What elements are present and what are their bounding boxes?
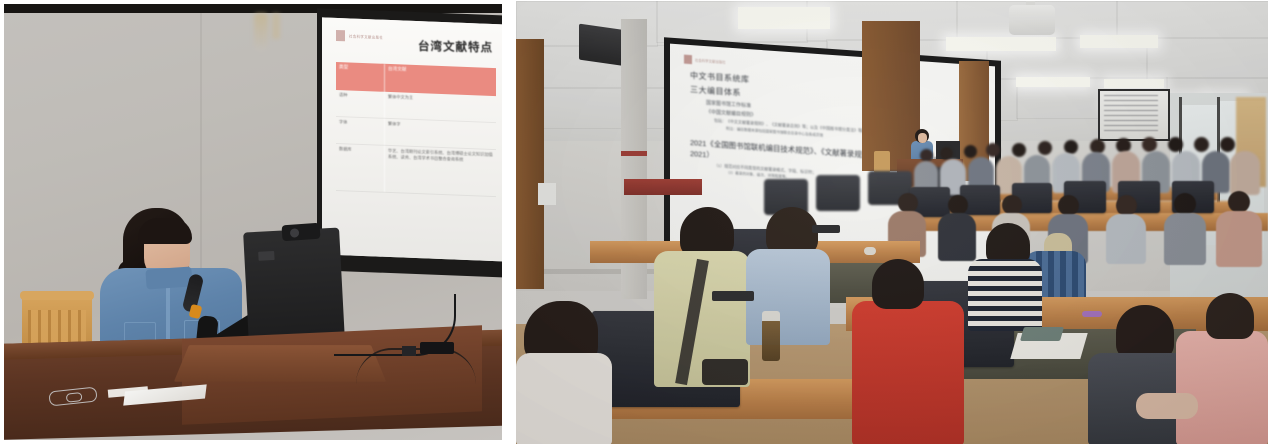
slide-table-row-label: 语种 bbox=[336, 90, 384, 118]
slide-table: 类型 台湾文献 语种 繁体中文为主 字体 繁体字 数据库 bbox=[336, 62, 496, 197]
audience-head bbox=[1116, 305, 1174, 359]
audience-head bbox=[872, 259, 924, 309]
audience-head bbox=[1064, 140, 1078, 154]
audience-person bbox=[1164, 213, 1206, 265]
audience-head bbox=[1168, 137, 1183, 152]
keyboard bbox=[812, 225, 840, 233]
ceiling-projector-icon bbox=[1009, 5, 1055, 35]
audience-head bbox=[1116, 195, 1137, 216]
audience-head bbox=[1206, 293, 1254, 339]
audience-person-left-foreground bbox=[516, 353, 612, 444]
cable-loop-secondary bbox=[356, 348, 476, 384]
slide-table-row-label: 字体 bbox=[336, 117, 384, 145]
shirt-collar bbox=[145, 266, 192, 289]
ceiling-light-panel bbox=[946, 37, 1056, 51]
mouse bbox=[864, 247, 876, 255]
wall-stain-secondary bbox=[272, 13, 280, 39]
slide-table-row-value: 繁体中文为主 bbox=[384, 92, 496, 122]
audience-head bbox=[1194, 137, 1209, 152]
smartphone bbox=[1020, 327, 1064, 341]
slide-table-row-label: 数据库 bbox=[336, 144, 384, 192]
slide-table-header-cell-0: 类型 bbox=[336, 62, 384, 92]
ceiling-light-panel bbox=[1104, 79, 1164, 88]
ceiling-light-panel bbox=[1016, 77, 1090, 87]
ceiling-light-panel bbox=[738, 7, 830, 29]
audience-head bbox=[1174, 193, 1196, 215]
presenter-bangs bbox=[138, 218, 192, 244]
keyboard bbox=[712, 291, 754, 301]
publisher-logo-icon bbox=[336, 30, 345, 41]
audience-head bbox=[1220, 137, 1235, 152]
podium-monitor bbox=[243, 228, 345, 345]
audience-head bbox=[1002, 195, 1022, 215]
audience-head bbox=[898, 193, 918, 213]
slide-table-row-value: 繁体字 bbox=[384, 119, 496, 149]
wall-speaker-icon bbox=[579, 24, 627, 67]
webcam-icon bbox=[281, 223, 320, 242]
ceiling-tile bbox=[1116, 1, 1268, 39]
desk-device bbox=[420, 342, 454, 354]
screenshot-root: 社会科学文献出版社 台湾文献特点 类型 台湾文献 语种 繁体中文为主 bbox=[0, 0, 1269, 444]
audience-head bbox=[964, 145, 977, 158]
audience-person-red-shirt bbox=[852, 301, 964, 444]
publisher-logo-icon bbox=[684, 55, 692, 65]
projection-screen-frame: 社会科学文献出版社 台湾文献特点 类型 台湾文献 语种 繁体中文为主 bbox=[317, 8, 502, 278]
side-door-left bbox=[516, 39, 544, 289]
audience-head bbox=[1058, 195, 1079, 216]
audience-head bbox=[766, 207, 818, 255]
slide-logo-text: 社会科学文献出版社 bbox=[695, 57, 726, 64]
chair-top-rail bbox=[20, 291, 94, 300]
slide-logo-text: 社会科学文献出版社 bbox=[349, 33, 383, 39]
bench-front bbox=[624, 179, 702, 195]
audience-person bbox=[938, 213, 976, 261]
slide-table-header-cell-1: 台湾文献 bbox=[384, 64, 496, 96]
monitor-badge bbox=[258, 251, 274, 261]
slide-table-row: 数据库 华艺、台湾期刊论文索引系统、台湾博硕士论文知识加值系统、读秀、台湾学术书… bbox=[336, 144, 496, 197]
lecturer-face bbox=[918, 133, 927, 143]
photo-classroom-wide: 社会科学文献出版社 中文书目系统库 三大编目体系 国家图书馆工作标准 《中国文献… bbox=[516, 1, 1268, 444]
audience-head bbox=[1012, 143, 1026, 157]
photo-presenter-closeup: 社会科学文献出版社 台湾文献特点 类型 台湾文献 语种 繁体中文为主 bbox=[4, 4, 502, 440]
slide-table-row-value: 华艺、台湾期刊论文索引系统、台湾博硕士论文知识加值系统、读秀、台湾学术书目整合查… bbox=[384, 146, 496, 196]
audience-person-pink-top bbox=[1176, 331, 1268, 444]
ceiling-tile bbox=[1146, 37, 1268, 79]
projection-screen-surface: 社会科学文献出版社 台湾文献特点 类型 台湾文献 语种 繁体中文为主 bbox=[322, 17, 502, 261]
ceiling-light-panel bbox=[1080, 35, 1158, 48]
audience-head bbox=[1228, 191, 1250, 213]
wall-stain bbox=[254, 13, 268, 51]
audience-head bbox=[680, 207, 734, 257]
audience-person-striped-top bbox=[968, 259, 1042, 331]
crossbody-bag bbox=[702, 359, 748, 385]
front-chair bbox=[874, 151, 890, 173]
audience-person bbox=[1230, 151, 1260, 195]
presentation-slide: 社会科学文献出版社 台湾文献特点 类型 台湾文献 语种 繁体中文为主 bbox=[322, 17, 502, 261]
slide-title: 台湾文献特点 bbox=[418, 38, 493, 55]
pen bbox=[1082, 311, 1102, 317]
audience-person bbox=[1106, 214, 1146, 264]
bottle-cap bbox=[762, 311, 780, 321]
desk-device-secondary bbox=[402, 346, 416, 356]
audience-person bbox=[1216, 211, 1262, 267]
audience-head bbox=[1142, 137, 1157, 152]
front-display-text-lines bbox=[1104, 95, 1158, 131]
audience-head bbox=[948, 195, 968, 215]
audience-person-denim-jacket bbox=[746, 249, 830, 345]
wall-switch-panel bbox=[538, 183, 556, 205]
audience-hands bbox=[1136, 393, 1198, 419]
chair-back bbox=[816, 175, 860, 211]
audience-head bbox=[1038, 141, 1052, 155]
column-red-marker bbox=[621, 151, 647, 156]
audience-head bbox=[986, 143, 1000, 157]
water-bottle bbox=[762, 319, 780, 361]
